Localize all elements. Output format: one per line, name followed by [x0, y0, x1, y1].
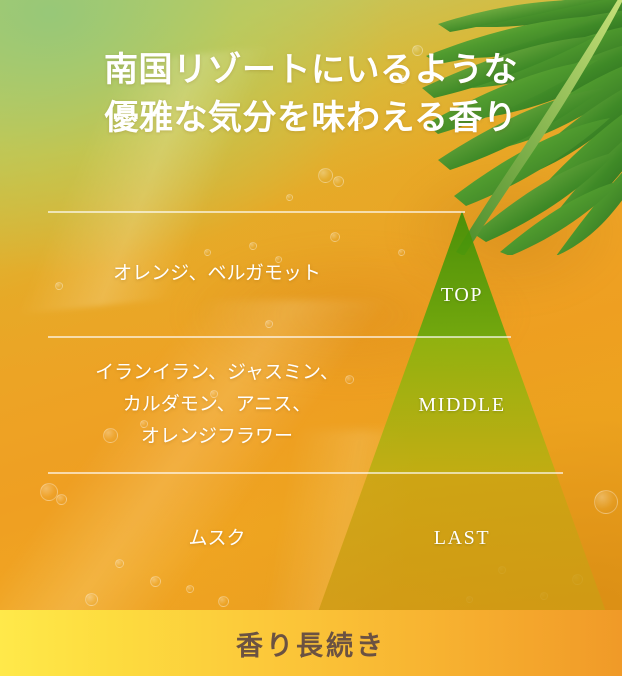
bubble-icon [572, 574, 583, 585]
bubble-icon [204, 249, 211, 256]
bubble-icon [40, 483, 58, 501]
pyramid-section-top [417, 211, 507, 337]
oil-streak-highlight-lower [0, 300, 440, 630]
bubble-icon [318, 168, 333, 183]
stage-label-middle: MIDDLE [0, 394, 622, 417]
bubble-icon [56, 494, 67, 505]
bubble-icon [218, 596, 229, 607]
stage-label-last: LAST [0, 527, 622, 550]
bubble-icon [498, 566, 506, 574]
title-line-1: 南国リゾートにいるような [0, 46, 622, 94]
bubble-icon [540, 592, 548, 600]
bubble-icon [186, 585, 194, 593]
bubble-icon [85, 593, 98, 606]
bubble-icon [466, 596, 473, 603]
divider-rule-last [48, 472, 563, 474]
banner-text: 香り長続き [236, 624, 386, 663]
fragrance-pyramid-card: 南国リゾートにいるような 優雅な気分を味わえる香り オレ [0, 0, 622, 676]
bubble-icon [249, 242, 257, 250]
divider-rule-middle [48, 336, 511, 338]
title-line-2: 優雅な気分を味わえる香り [0, 94, 622, 142]
bubble-icon [594, 490, 618, 514]
bubble-icon [115, 559, 124, 568]
page-title: 南国リゾートにいるような 優雅な気分を味わえる香り [0, 46, 622, 142]
stage-label-top: TOP [0, 284, 622, 307]
bottom-banner: 香り長続き [0, 610, 622, 676]
bubble-icon [150, 576, 161, 587]
bubble-icon [398, 249, 405, 256]
divider-rule-top [48, 211, 465, 213]
bubble-icon [265, 320, 273, 328]
bubble-icon [330, 232, 340, 242]
bubble-icon [333, 176, 344, 187]
bubble-icon [286, 194, 293, 201]
